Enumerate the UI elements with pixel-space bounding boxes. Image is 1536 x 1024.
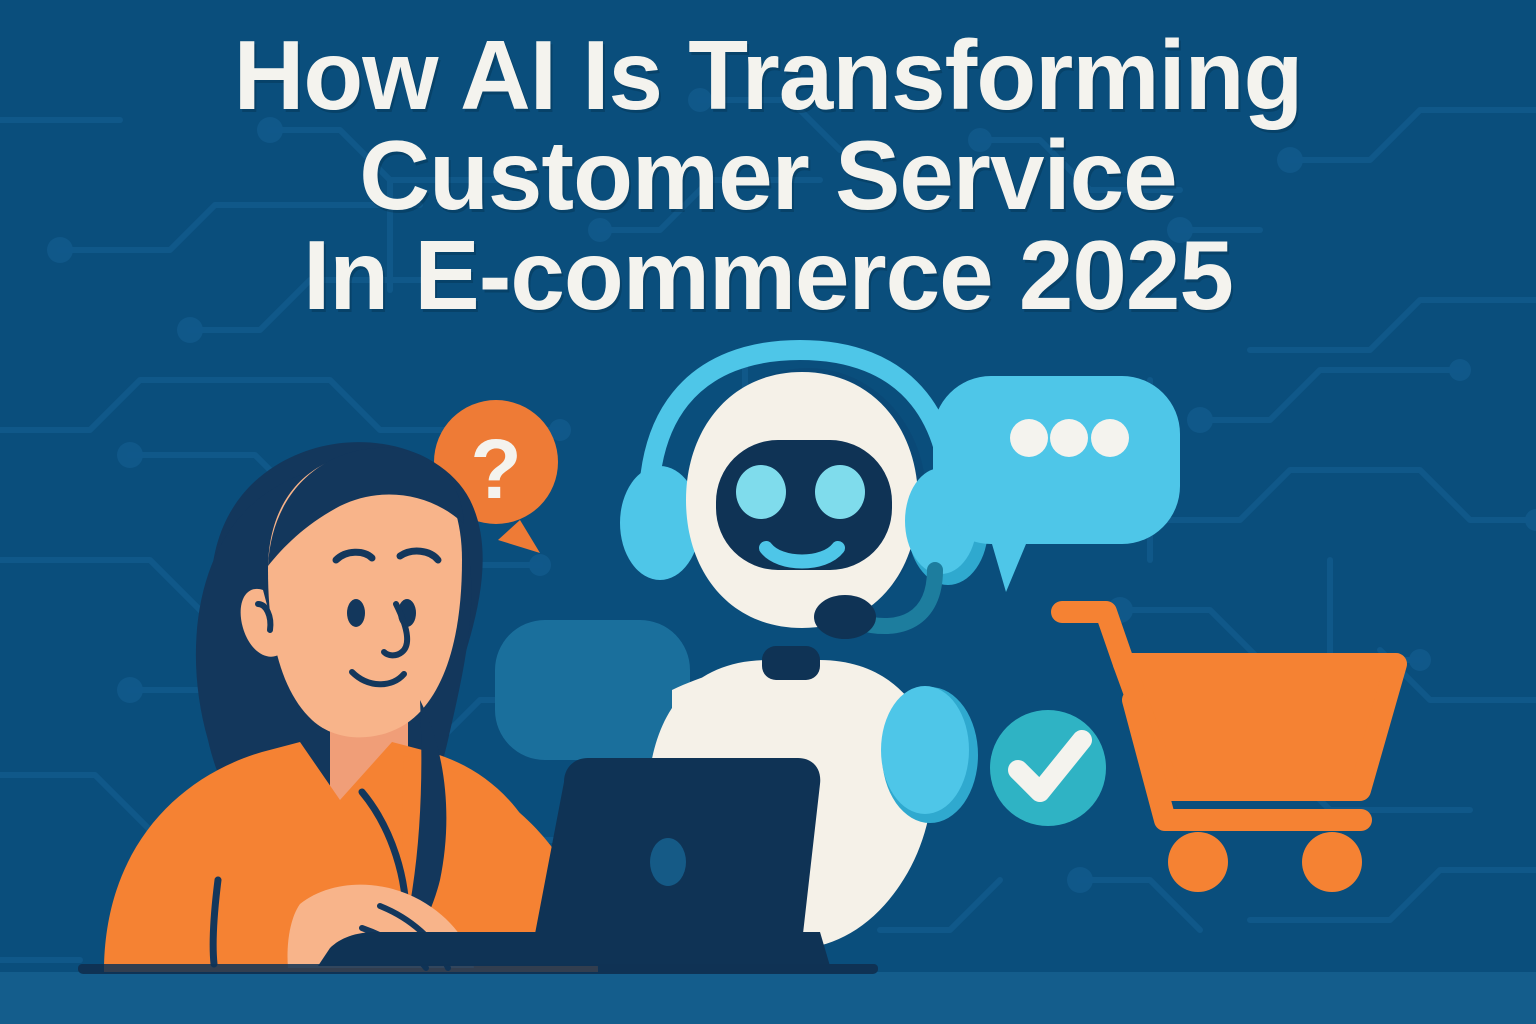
robot-eye-left <box>736 465 786 519</box>
robot-arm-right <box>881 686 969 814</box>
woman-eye-left <box>347 599 365 627</box>
check-badge <box>990 710 1106 826</box>
hero-banner: How AI Is Transforming Customer Service … <box>0 0 1536 1024</box>
robot-eye-right <box>815 465 865 519</box>
typing-dot-1 <box>1010 419 1048 457</box>
robot-head <box>686 368 926 628</box>
laptop-base <box>318 932 830 966</box>
question-mark-glyph: ? <box>470 422 521 516</box>
laptop-logo <box>650 838 686 886</box>
robot-neck <box>762 646 820 680</box>
shopping-cart-wheels <box>1168 832 1362 892</box>
shopping-cart <box>1062 612 1396 820</box>
illustration-artwork: ? <box>0 0 1536 1024</box>
cart-wheel-right <box>1302 832 1362 892</box>
typing-dot-3 <box>1091 419 1129 457</box>
typing-dot-2 <box>1050 419 1088 457</box>
cart-wheel-left <box>1168 832 1228 892</box>
